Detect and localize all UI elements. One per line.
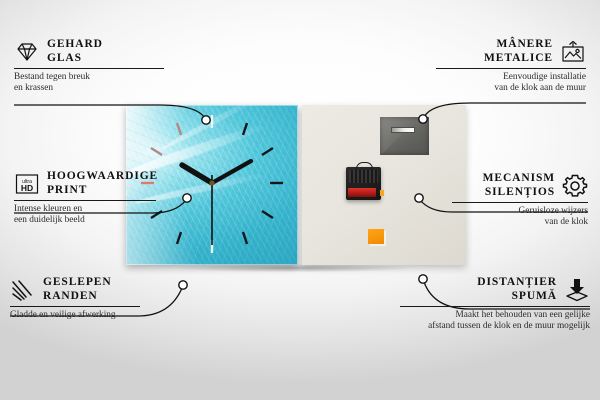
- callout-subtitle: Geruisloze wijzers van de klok: [452, 206, 588, 229]
- callout-rule: [400, 306, 590, 307]
- subtitle-line-2: van de klok: [545, 217, 588, 227]
- callout-subtitle: Eenvoudige installatie van de klok aan d…: [436, 72, 586, 95]
- title-line-1: HOOGWAARDIGE: [47, 170, 158, 182]
- callout-title: MECANISM SILENȚIOS: [483, 172, 555, 199]
- diamond-icon: [14, 39, 40, 65]
- down-arrow-block-icon: [564, 277, 590, 303]
- callout-title: GESLEPEN RANDEN: [43, 276, 112, 303]
- subtitle-line-2: van de klok aan de muur: [494, 83, 586, 93]
- subtitle-line-1: Maakt het behouden van een gelijke: [456, 310, 591, 320]
- title-line-2: PRINT: [47, 184, 158, 198]
- subtitle-line-1: Gladde en veilige afwerking: [10, 310, 116, 320]
- quartz-mechanism: [346, 167, 381, 200]
- callout-subtitle: Maakt het behouden van een gelijke afsta…: [400, 310, 590, 333]
- hanger-slot: [391, 127, 415, 133]
- callout-title: DISTANȚIER SPUMĂ: [477, 276, 557, 303]
- clock-back-panel: [302, 105, 466, 265]
- title-line-1: GESLEPEN: [43, 276, 112, 288]
- product-image: [126, 105, 466, 265]
- subtitle-line-2: en krassen: [14, 83, 53, 93]
- callout-subtitle: Intense kleuren en een duidelijk beeld: [14, 204, 156, 227]
- subtitle-line-1: Bestand tegen breuk: [14, 72, 90, 82]
- hour-hand: [182, 165, 212, 183]
- svg-text:HD: HD: [21, 183, 33, 193]
- subtitle-line-2: afstand tussen de klok en de muur mogeli…: [428, 321, 590, 331]
- title-line-2: RANDEN: [43, 290, 112, 304]
- title-line-2: SILENȚIOS: [483, 186, 555, 200]
- callout-hd-print: ultra HD HOOGWAARDIGE PRINT Intense kleu…: [14, 170, 156, 227]
- callout-title: HOOGWAARDIGE PRINT: [47, 170, 158, 197]
- callout-title: MÂNERE METALICE: [484, 38, 553, 65]
- callout-title: GEHARD GLAS: [47, 38, 103, 65]
- metal-hanger-plate: [380, 117, 429, 155]
- title-line-1: MÂNERE: [496, 38, 553, 50]
- foam-spacer: [368, 229, 384, 244]
- callout-tempered-glass: GEHARD GLAS Bestand tegen breuk en krass…: [14, 38, 164, 95]
- title-line-1: DISTANȚIER: [477, 276, 557, 288]
- wire-endpoint: [179, 281, 187, 289]
- callout-rule: [436, 68, 586, 69]
- gear-icon: [562, 173, 588, 199]
- callout-metal-handles: MÂNERE METALICE Eenvoudige installatie v…: [436, 38, 586, 95]
- wall-hanging-icon: [560, 39, 586, 65]
- title-line-1: MECANISM: [483, 172, 555, 184]
- beveled-edges-icon: [10, 277, 36, 303]
- hands-cap: [209, 180, 214, 185]
- subtitle-line-1: Geruisloze wijzers: [519, 206, 588, 216]
- subtitle-line-2: een duidelijk beeld: [14, 215, 85, 225]
- callout-silent-mechanism: MECANISM SILENȚIOS Geruisloze wijzers va…: [452, 172, 588, 229]
- battery-tip: [380, 190, 384, 196]
- mechanism-grill: [349, 170, 378, 183]
- callout-foam-spacer: DISTANȚIER SPUMĂ Maakt het behouden van …: [400, 276, 590, 333]
- subtitle-line-1: Intense kleuren en: [14, 204, 82, 214]
- callout-subtitle: Bestand tegen breuk en krassen: [14, 72, 164, 95]
- mechanism-loop: [356, 162, 373, 170]
- aa-battery: [348, 188, 376, 197]
- callout-rule: [14, 200, 156, 201]
- title-line-2: GLAS: [47, 52, 103, 66]
- minute-hand: [212, 161, 251, 183]
- callout-rule: [452, 202, 588, 203]
- title-line-2: METALICE: [484, 52, 553, 66]
- title-line-2: SPUMĂ: [477, 290, 557, 304]
- callout-subtitle: Gladde en veilige afwerking: [10, 310, 140, 321]
- ultra-hd-icon: ultra HD: [14, 171, 40, 197]
- title-line-1: GEHARD: [47, 38, 103, 50]
- subtitle-line-1: Eenvoudige installatie: [503, 72, 586, 82]
- callout-rule: [10, 306, 140, 307]
- callout-rule: [14, 68, 164, 69]
- callout-ground-edges: GESLEPEN RANDEN Gladde en veilige afwerk…: [10, 276, 140, 321]
- infographic-canvas: GEHARD GLAS Bestand tegen breuk en krass…: [0, 0, 600, 400]
